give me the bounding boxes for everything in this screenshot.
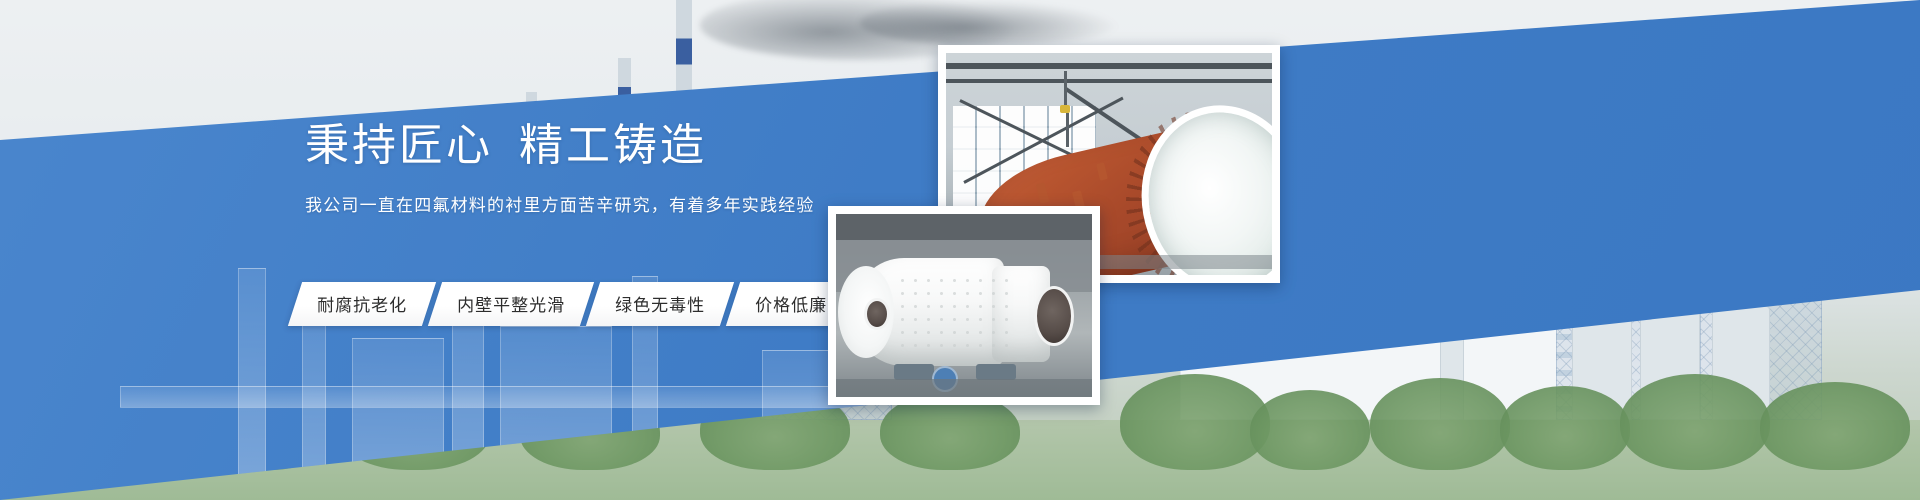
- roof-beam: [946, 79, 1272, 83]
- tank-side-port: [864, 298, 890, 330]
- feature-tag[interactable]: 内壁平整光滑: [428, 282, 594, 326]
- tank-manhole: [1034, 286, 1074, 346]
- feature-tag-label: 内壁平整光滑: [457, 291, 565, 316]
- headline-part-2: 精工铸造: [519, 121, 707, 170]
- feature-tag-label: 耐腐抗老化: [317, 291, 407, 316]
- tree: [1760, 382, 1910, 470]
- feature-tag-label: 绿色无毒性: [615, 291, 705, 316]
- page-title: 秉持匠心精工铸造: [305, 118, 865, 173]
- tree: [1250, 390, 1370, 470]
- feature-tag[interactable]: 绿色无毒性: [586, 282, 734, 326]
- tree: [1500, 386, 1630, 470]
- floor-shadow: [836, 379, 1092, 397]
- hoist-cable: [1064, 71, 1067, 107]
- white-lined-tank-photo[interactable]: [828, 206, 1100, 405]
- tree: [1120, 374, 1270, 470]
- feature-tag-list: 耐腐抗老化 内壁平整光滑 绿色无毒性 价格低廉: [295, 282, 849, 326]
- tank-saddle: [976, 364, 1016, 380]
- smoke-plume-2: [860, 0, 1120, 46]
- tree: [1370, 378, 1510, 470]
- tree: [1620, 374, 1770, 470]
- hero-copy: 秉持匠心精工铸造 我公司一直在四氟材料的衬里方面苦辛研究，有着多年实践经验: [305, 118, 865, 216]
- feature-tag[interactable]: 耐腐抗老化: [288, 282, 436, 326]
- headline-part-1: 秉持匠心: [305, 121, 493, 170]
- feature-tag-label: 价格低廉: [755, 291, 827, 316]
- tank-surface-studs: [896, 274, 1016, 354]
- roof-beam: [946, 63, 1272, 69]
- company-hero-banner: 秉持匠心精工铸造 我公司一直在四氟材料的衬里方面苦辛研究，有着多年实践经验 耐腐…: [0, 0, 1920, 500]
- hoist-hook: [1060, 105, 1070, 113]
- workshop-ceiling: [836, 214, 1092, 240]
- tank-saddle: [894, 364, 934, 380]
- hero-subtitle: 我公司一直在四氟材料的衬里方面苦辛研究，有着多年实践经验: [305, 191, 865, 216]
- hoist-cable: [1066, 113, 1069, 147]
- white-tank-photo-inner: [836, 214, 1092, 397]
